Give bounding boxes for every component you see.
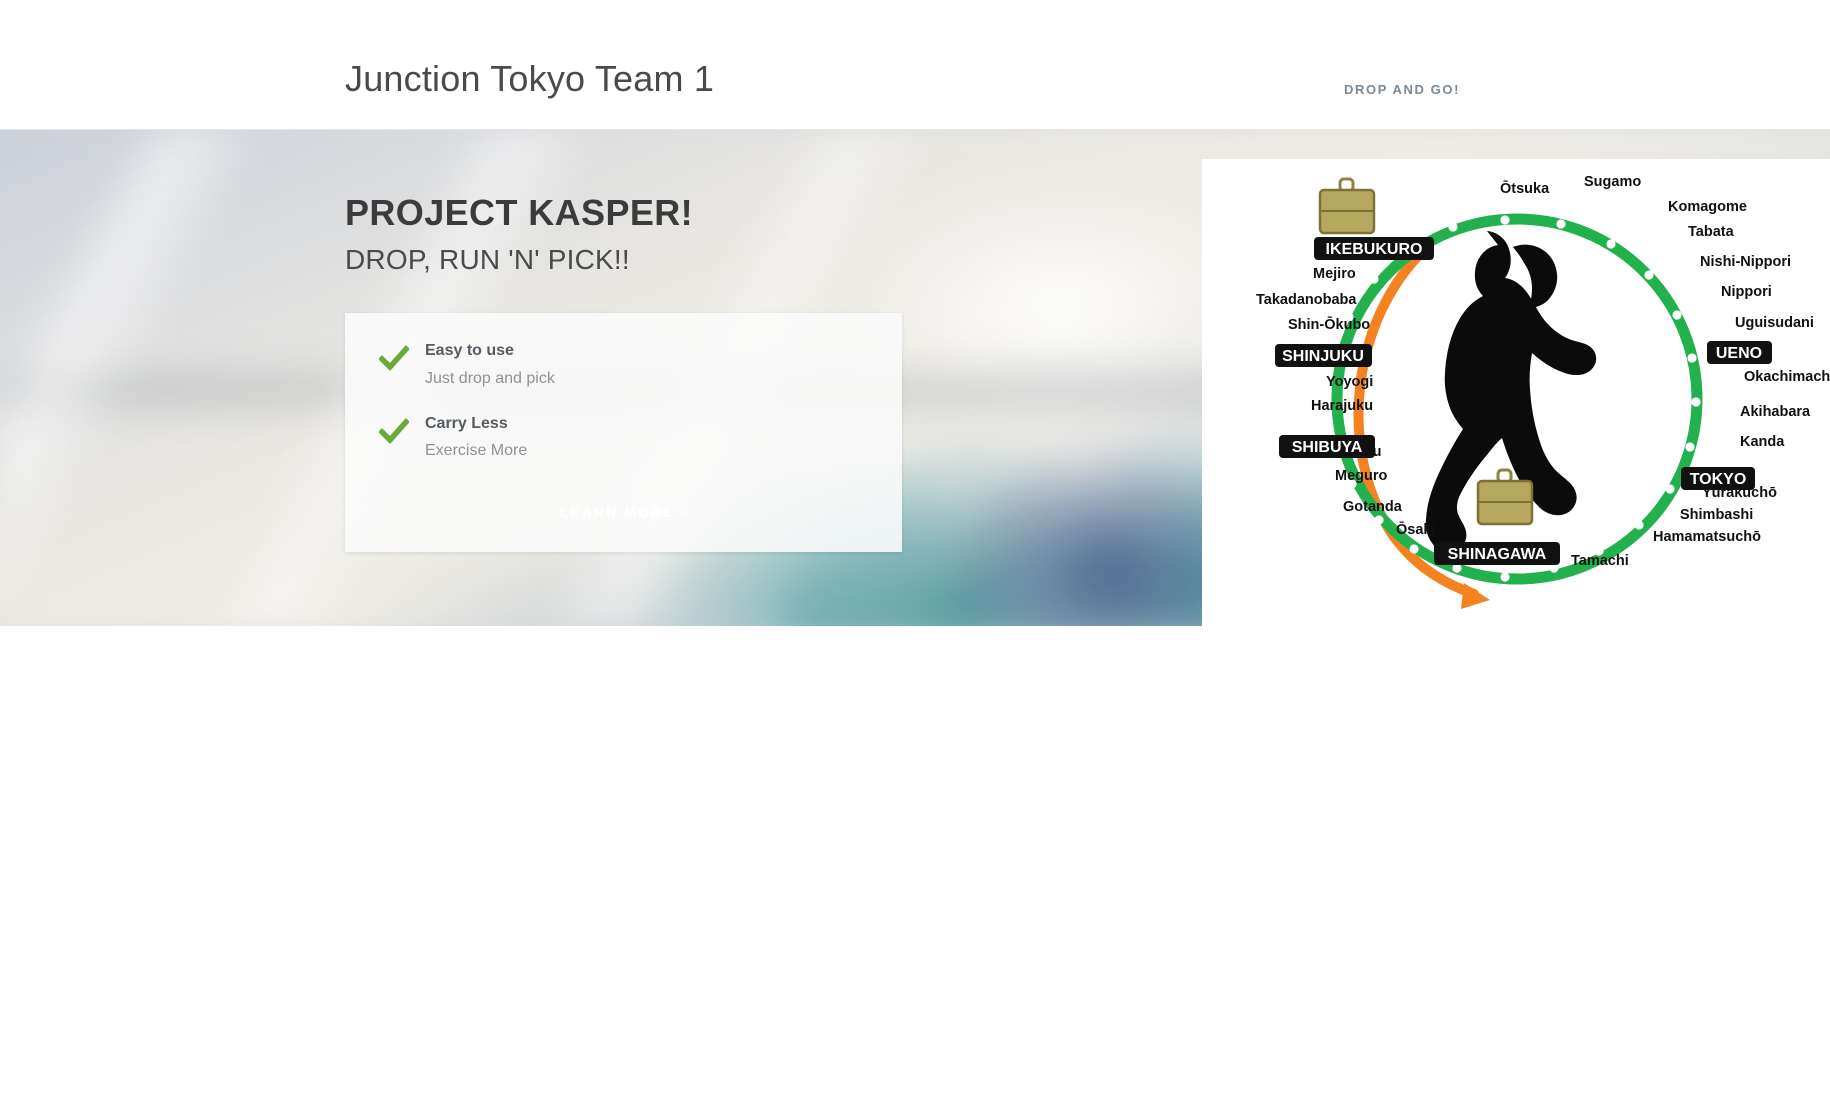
feature-title: Carry Less [425, 414, 527, 435]
station-label: Shin-Ōkubo [1288, 315, 1370, 333]
learn-more-link[interactable]: LEARN MORE › [345, 504, 902, 520]
station-label: Yoyogi [1326, 374, 1373, 390]
station-label: Meguro [1335, 468, 1388, 484]
station-label: Kanda [1740, 434, 1785, 450]
station-label: Tabata [1688, 224, 1735, 240]
feature-description: Exercise More [425, 441, 527, 462]
check-mark-icon [379, 344, 409, 374]
feature-description: Just drop and pick [425, 369, 555, 390]
hero-banner: PROJECT KASPER! DROP, RUN 'N' PICK!! Eas… [0, 130, 1830, 626]
station-label: Mejiro [1313, 266, 1356, 282]
major-station-plaque: UENO [1707, 341, 1772, 364]
station-label: Hamamatsuchō [1653, 529, 1761, 545]
feature-item: Carry Less Exercise More [379, 414, 868, 463]
svg-text:TOKYO: TOKYO [1690, 471, 1747, 488]
site-brand-title: Junction Tokyo Team 1 [345, 58, 714, 100]
station-label: Harajuku [1311, 398, 1373, 414]
feature-title: Easy to use [425, 341, 555, 362]
hero-text-block: PROJECT KASPER! DROP, RUN 'N' PICK!! [345, 192, 693, 276]
major-station-plaque: TOKYO [1681, 467, 1755, 490]
station-label: Tamachi [1571, 553, 1629, 569]
svg-text:IKEBUKURO: IKEBUKURO [1326, 241, 1423, 258]
main-content: 日本国 10 Prediction RUN PREDICTION Upload … [0, 626, 1830, 1099]
hero-title: PROJECT KASPER! [345, 192, 693, 233]
feature-card: Easy to use Just drop and pick Carry Les… [345, 313, 902, 552]
yamanote-line-map: Ōtsuka Sugamo Komagome Tabata Nishi-Nipp… [1202, 159, 1830, 626]
svg-text:SHINJUKU: SHINJUKU [1282, 348, 1364, 365]
station-label: Sugamo [1584, 174, 1641, 190]
svg-text:SHIBUYA: SHIBUYA [1292, 439, 1363, 456]
hero-subtitle: DROP, RUN 'N' PICK!! [345, 244, 693, 276]
station-label: Ōtsuka [1500, 179, 1550, 197]
main-navigation: DROP AND GO! [1344, 82, 1830, 97]
svg-text:SHINAGAWA: SHINAGAWA [1448, 546, 1547, 563]
site-header: Junction Tokyo Team 1 DROP AND GO! [0, 0, 1830, 130]
feature-item: Easy to use Just drop and pick [379, 341, 868, 390]
major-station-plaque: IKEBUKURO [1314, 237, 1434, 260]
header-inner: Junction Tokyo Team 1 DROP AND GO! [0, 0, 1830, 129]
station-label: Nishi-Nippori [1700, 254, 1791, 270]
yamanote-map-svg: Ōtsuka Sugamo Komagome Tabata Nishi-Nipp… [1202, 159, 1830, 626]
major-station-plaque: SHINAGAWA [1434, 542, 1560, 565]
svg-text:UENO: UENO [1716, 345, 1762, 362]
nav-drop-and-go[interactable]: DROP AND GO! [1344, 82, 1460, 97]
station-label: Nippori [1721, 284, 1772, 300]
check-mark-icon [379, 417, 409, 447]
station-label: Shimbashi [1680, 507, 1753, 523]
station-label: Uguisudani [1735, 315, 1814, 331]
station-label: Ōsaki [1396, 520, 1436, 538]
station-label: Akihabara [1740, 404, 1811, 420]
major-station-plaque: SHINJUKU [1275, 344, 1372, 367]
station-label: Takadanobaba [1256, 292, 1357, 308]
major-station-plaque: SHIBUYA [1279, 435, 1375, 458]
station-label: Gotanda [1343, 499, 1403, 515]
station-label: Komagome [1668, 199, 1747, 215]
station-label: Okachimachi [1744, 369, 1830, 385]
